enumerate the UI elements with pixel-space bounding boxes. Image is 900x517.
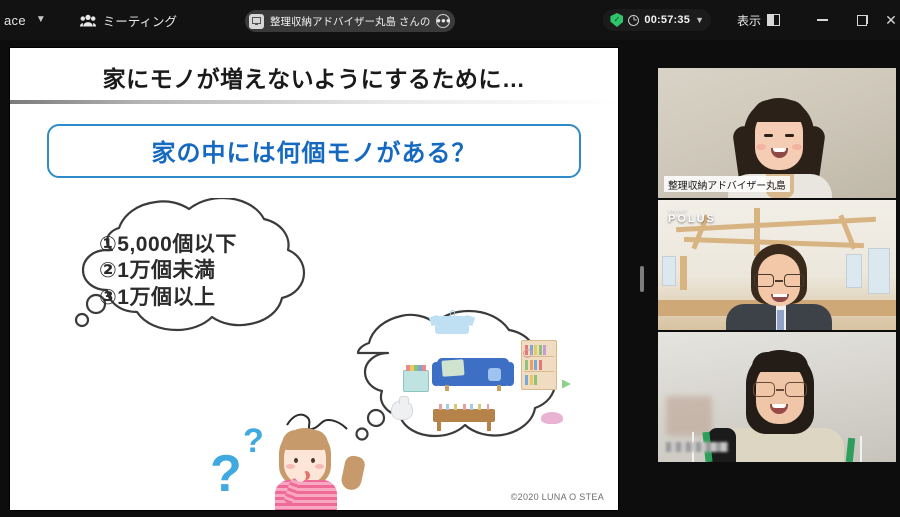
shared-screen-stage[interactable]: 家にモノが増えないようにするために… 家の中には何個モノがある？ ①5,000個… [0, 40, 628, 517]
hanger-clothes-icon [435, 310, 469, 334]
question-box: 家の中には何個モノがある？ [47, 124, 581, 178]
puzzled-woman-icon: ? ? [265, 426, 355, 510]
layout-icon [767, 14, 780, 26]
thought-cloud-room-icon [340, 298, 600, 448]
options-list: ①5,000個以下 ②1万個未満 ③1万個以上 [99, 232, 237, 313]
table-icon [433, 409, 495, 422]
thought-cloud-icon: ①5,000個以下 ②1万個未満 ③1万個以上 [52, 198, 352, 338]
minimize-icon [817, 19, 828, 21]
pet-icon [541, 412, 563, 424]
close-icon: ✕ [885, 13, 897, 27]
restore-icon [857, 15, 868, 26]
question-mark-small-icon: ? [243, 424, 264, 458]
more-options-icon[interactable]: ●●● [436, 14, 450, 28]
window-controls: ✕ [802, 0, 900, 40]
list-item: ②1万個未満 [99, 258, 237, 285]
polus-watermark: GROUP POLUS [668, 208, 716, 225]
presentation-slide: 家にモノが増えないようにするために… 家の中には何個モノがある？ ①5,000個… [10, 48, 618, 510]
participant-tile-2[interactable]: GROUP POLUS [658, 200, 896, 330]
share-status-label: 整理収納アドバイザー丸島 さんの [270, 14, 430, 29]
participant-tile-1[interactable]: 整理収納アドバイザー丸島 [658, 68, 896, 198]
toy-box-icon [403, 370, 429, 392]
confusion-squiggle-icon [285, 412, 349, 432]
list-item: ①5,000個以下 [99, 232, 237, 259]
bookshelf-icon [521, 340, 557, 390]
participant-video-panel: 整理収納アドバイザー丸島 GROUP POLUS [656, 40, 900, 517]
meeting-window: ace ▼ ミーティング 整理収納アドバイザー丸島 さんの ●●● [0, 0, 900, 517]
shield-check-icon: ✓ [610, 13, 623, 27]
blurred-name-tag [666, 442, 728, 452]
panel-resize-divider[interactable] [628, 40, 656, 517]
question-mark-large-icon: ? [210, 448, 242, 500]
meeting-menu-label: ミーティング [103, 11, 177, 30]
chevron-down-icon[interactable]: ▼ [30, 14, 52, 25]
polus-watermark-label: POLUS [668, 213, 716, 225]
close-button[interactable]: ✕ [882, 0, 900, 40]
list-item: ③1万個以上 [99, 285, 237, 312]
participant-name-tag: 整理収納アドバイザー丸島 [664, 176, 790, 192]
minimize-button[interactable] [802, 0, 842, 40]
meeting-menu[interactable]: ミーティング [80, 11, 177, 30]
chevron-down-icon[interactable]: ▼ [695, 15, 704, 25]
top-toolbar: ace ▼ ミーティング 整理収納アドバイザー丸島 さんの ●●● [0, 0, 900, 40]
view-button[interactable]: 表示 [737, 12, 780, 29]
share-status-pill[interactable]: 整理収納アドバイザー丸島 さんの ●●● [245, 10, 455, 32]
toolbar-right-group: ✓ 00:57:35 ▼ 表示 ✕ [603, 0, 900, 40]
screen-share-icon [249, 14, 264, 29]
bag-icon [391, 400, 413, 420]
room-illustration [395, 328, 555, 420]
sofa-icon [437, 358, 509, 386]
meeting-timer: 00:57:35 [644, 14, 690, 26]
toolbar-left-group: ace ▼ ミーティング [0, 11, 177, 30]
participant-tile-3[interactable] [658, 332, 896, 462]
clock-icon [628, 15, 639, 26]
restore-button[interactable] [842, 0, 882, 40]
title-divider [10, 100, 618, 104]
copyright-notice: ©2020 LUNA O STEA [511, 492, 604, 502]
resize-grip-icon [640, 266, 644, 292]
app-name-label: ace [2, 13, 30, 28]
people-icon [80, 14, 96, 27]
meeting-timer-group[interactable]: ✓ 00:57:35 ▼ [603, 9, 711, 31]
page-title: 家にモノが増えないようにするために… [10, 48, 618, 94]
question-box-label: 家の中には何個モノがある？ [152, 133, 477, 168]
view-button-label: 表示 [737, 12, 761, 29]
